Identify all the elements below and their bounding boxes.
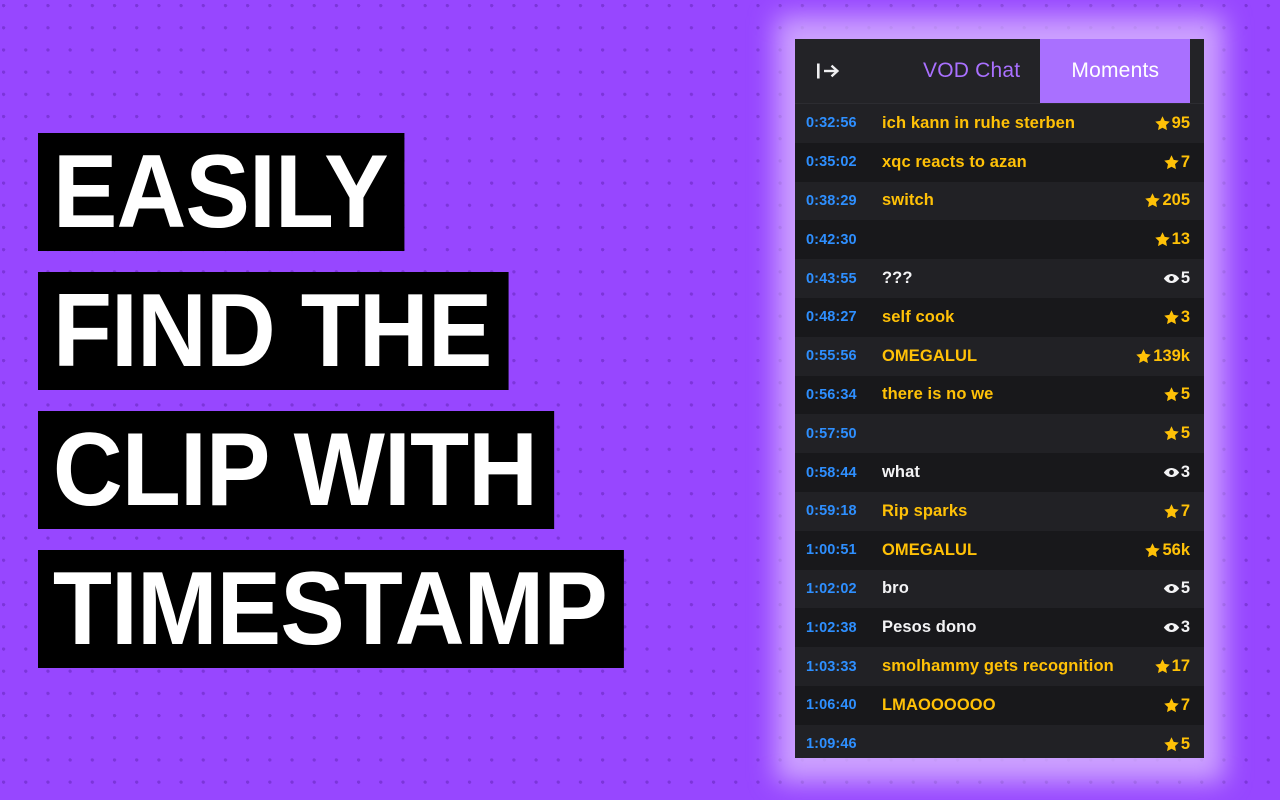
star-icon (1135, 348, 1152, 365)
moment-metric: 56k (1144, 541, 1194, 560)
moment-metric-value: 56k (1162, 541, 1190, 560)
moment-metric: 3 (1163, 463, 1194, 482)
moment-metric: 3 (1163, 308, 1194, 327)
moment-title: OMEGALUL (882, 541, 1144, 560)
moment-timestamp: 0:57:50 (806, 426, 873, 442)
moment-row[interactable]: 0:38:29switch205 (795, 182, 1204, 221)
moment-timestamp: 1:00:51 (806, 542, 873, 558)
moment-timestamp: 0:48:27 (806, 309, 873, 325)
moment-title: there is no we (882, 385, 1163, 404)
moment-metric-value: 95 (1172, 114, 1190, 133)
moment-title: xqc reacts to azan (882, 153, 1163, 172)
moment-title: LMAOOOOOO (882, 696, 1163, 715)
moment-metric-value: 3 (1181, 463, 1190, 482)
moment-row[interactable]: 0:32:56ich kann in ruhe sterben95 (795, 104, 1204, 143)
moment-metric-value: 205 (1162, 191, 1190, 210)
moment-metric: 5 (1163, 269, 1194, 288)
star-icon (1163, 736, 1180, 753)
star-icon (1163, 386, 1180, 403)
moment-metric: 7 (1163, 502, 1194, 521)
tab-moments[interactable]: Moments (1040, 39, 1190, 103)
moment-title: bro (882, 579, 1163, 598)
moment-row[interactable]: 1:06:40LMAOOOOOO7 (795, 686, 1204, 725)
moment-timestamp: 0:59:18 (806, 503, 873, 519)
star-icon (1154, 115, 1171, 132)
moment-timestamp: 1:09:46 (806, 736, 873, 752)
moment-metric-value: 7 (1181, 502, 1190, 521)
moment-title: OMEGALUL (882, 347, 1135, 366)
moment-metric: 5 (1163, 424, 1194, 443)
panel-header: VOD Chat Moments (795, 39, 1204, 104)
eye-icon (1163, 272, 1180, 285)
moment-metric: 7 (1163, 696, 1194, 715)
moment-row[interactable]: 1:02:38Pesos dono3 (795, 608, 1204, 647)
moment-timestamp: 0:55:56 (806, 348, 873, 364)
star-icon (1154, 658, 1171, 675)
moment-metric: 95 (1154, 114, 1194, 133)
moment-metric-value: 7 (1181, 696, 1190, 715)
headline-block: EASILY FIND THE CLIP WITH TIMESTAMP (38, 133, 668, 668)
collapse-panel-icon (815, 59, 841, 83)
tab-vod-chat[interactable]: VOD Chat (903, 39, 1040, 103)
eye-icon (1163, 466, 1180, 479)
moment-row[interactable]: 1:03:33smolhammy gets recognition17 (795, 647, 1204, 686)
moment-timestamp: 1:06:40 (806, 697, 873, 713)
moment-metric: 17 (1154, 657, 1194, 676)
moment-timestamp: 0:43:55 (806, 271, 873, 287)
star-icon (1163, 309, 1180, 326)
moment-row[interactable]: 0:48:27self cook3 (795, 298, 1204, 337)
moment-metric: 139k (1135, 347, 1194, 366)
moment-row[interactable]: 0:42:3013 (795, 220, 1204, 259)
moment-title: what (882, 463, 1163, 482)
moment-title: switch (882, 191, 1144, 210)
eye-icon (1163, 621, 1180, 634)
moment-timestamp: 0:56:34 (806, 387, 873, 403)
star-icon (1163, 425, 1180, 442)
moment-timestamp: 1:02:02 (806, 581, 873, 597)
promo-canvas: EASILY FIND THE CLIP WITH TIMESTAMP VOD … (0, 0, 1280, 800)
panel-tabs: VOD Chat Moments (861, 39, 1204, 103)
moment-title: Pesos dono (882, 618, 1163, 637)
moment-title: ich kann in ruhe sterben (882, 114, 1154, 133)
moment-row[interactable]: 1:09:465 (795, 725, 1204, 758)
moment-row[interactable]: 1:02:02bro5 (795, 570, 1204, 609)
moment-metric: 13 (1154, 230, 1194, 249)
eye-icon (1163, 582, 1180, 595)
headline-line-1: EASILY (38, 133, 405, 251)
moment-metric: 5 (1163, 385, 1194, 404)
moment-timestamp: 0:35:02 (806, 154, 873, 170)
moment-metric: 3 (1163, 618, 1194, 637)
headline-line-4: TIMESTAMP (38, 550, 624, 668)
moment-metric-value: 5 (1181, 735, 1190, 754)
star-icon (1163, 154, 1180, 171)
moment-row[interactable]: 0:58:44what3 (795, 453, 1204, 492)
star-icon (1163, 697, 1180, 714)
moment-timestamp: 0:38:29 (806, 193, 873, 209)
moment-row[interactable]: 0:59:18Rip sparks7 (795, 492, 1204, 531)
moment-timestamp: 0:42:30 (806, 232, 873, 248)
moment-timestamp: 0:32:56 (806, 115, 873, 131)
moments-list[interactable]: 0:32:56ich kann in ruhe sterben950:35:02… (795, 104, 1204, 758)
moments-panel: VOD Chat Moments 0:32:56ich kann in ruhe… (795, 39, 1204, 758)
moment-row[interactable]: 0:56:34there is no we5 (795, 376, 1204, 415)
moment-title: Rip sparks (882, 502, 1163, 521)
moment-metric-value: 3 (1181, 308, 1190, 327)
moment-metric-value: 17 (1172, 657, 1190, 676)
moment-row[interactable]: 0:43:55???5 (795, 259, 1204, 298)
moment-timestamp: 1:02:38 (806, 620, 873, 636)
moment-row[interactable]: 0:57:505 (795, 414, 1204, 453)
moment-metric-value: 3 (1181, 618, 1190, 637)
moment-metric-value: 13 (1172, 230, 1190, 249)
moment-metric: 5 (1163, 579, 1194, 598)
moment-row[interactable]: 0:55:56OMEGALUL139k (795, 337, 1204, 376)
moment-title: self cook (882, 308, 1163, 327)
moment-metric-value: 5 (1181, 424, 1190, 443)
moment-metric-value: 7 (1181, 153, 1190, 172)
moment-title: ??? (882, 269, 1163, 288)
moment-metric-value: 5 (1181, 579, 1190, 598)
star-icon (1144, 192, 1161, 209)
moment-metric: 205 (1144, 191, 1194, 210)
moment-metric-value: 139k (1153, 347, 1190, 366)
moment-timestamp: 1:03:33 (806, 659, 873, 675)
moment-metric-value: 5 (1181, 385, 1190, 404)
moment-metric: 7 (1163, 153, 1194, 172)
collapse-panel-button[interactable] (795, 39, 861, 103)
moment-timestamp: 0:58:44 (806, 465, 873, 481)
moment-row[interactable]: 1:00:51OMEGALUL56k (795, 531, 1204, 570)
headline-line-2: FIND THE (38, 272, 508, 390)
star-icon (1144, 542, 1161, 559)
headline-line-3: CLIP WITH (38, 411, 554, 529)
moment-metric: 5 (1163, 735, 1194, 754)
moment-row[interactable]: 0:35:02xqc reacts to azan7 (795, 143, 1204, 182)
moment-title: smolhammy gets recognition (882, 657, 1154, 676)
star-icon (1154, 231, 1171, 248)
moment-metric-value: 5 (1181, 269, 1190, 288)
star-icon (1163, 503, 1180, 520)
